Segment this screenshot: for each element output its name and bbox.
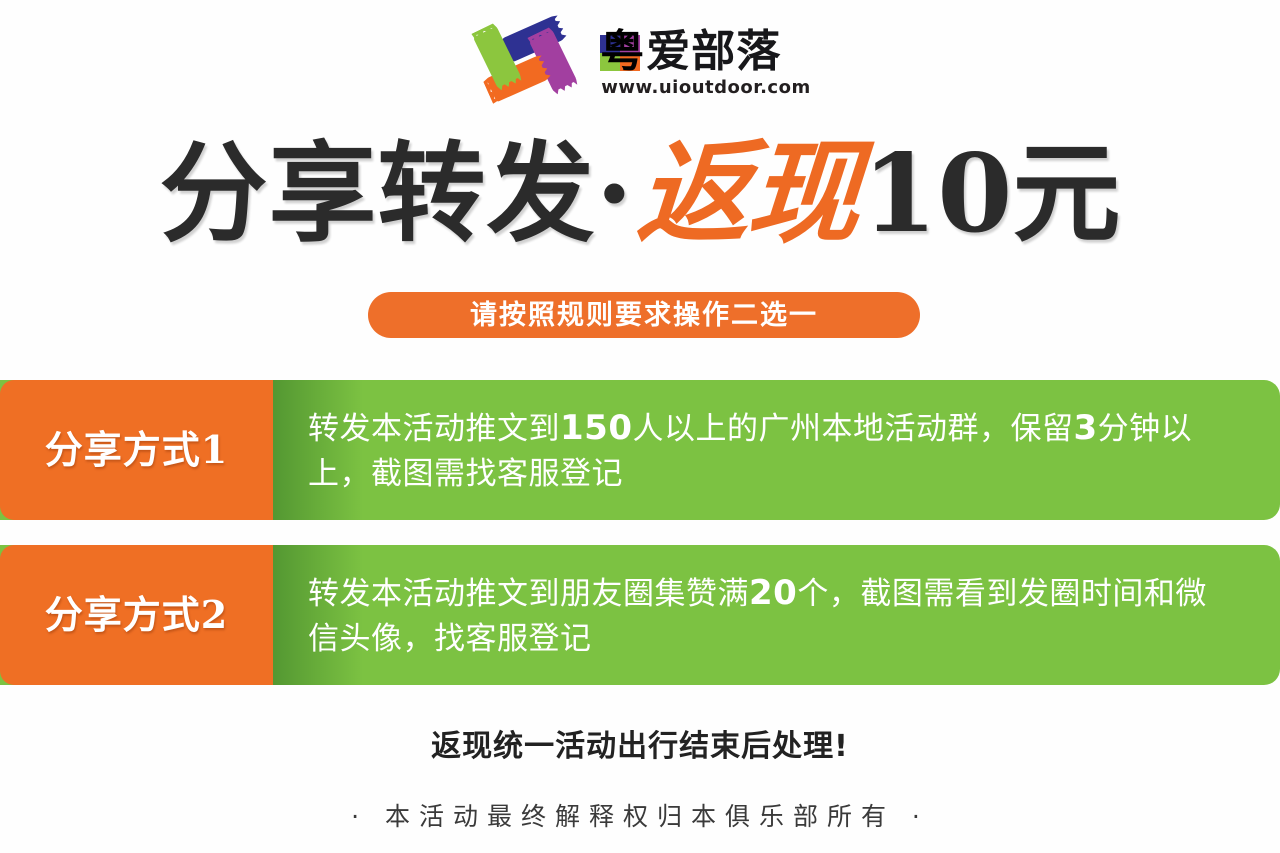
headline-part-dark: 分享转发·: [160, 140, 635, 248]
method-body-text: 转发本活动推文到150人以上的广州本地活动群，保留3分钟以上，截图需找客服登记: [308, 404, 1238, 496]
method-label-text: 分享方式2: [45, 596, 228, 634]
brand-text-group: 粤 爱部落 www.uioutdoor.com: [599, 30, 810, 98]
method-label-text: 分享方式1: [45, 431, 228, 469]
footer-main-note-text: 返现统一活动出行结束后处理!: [431, 729, 849, 764]
brand-name-prefix: 粤: [600, 26, 645, 77]
brand-name-hero-char: 粤: [599, 30, 646, 75]
rule-banner: 请按照规则要求操作二选一: [368, 292, 920, 338]
method-body-text: 转发本活动推文到朋友圈集赞满20个，截图需看到发圈时间和微信头像，找客服登记: [308, 569, 1238, 661]
headline-part-accent: 返现: [630, 138, 866, 250]
method-label-badge: 分享方式1: [0, 380, 273, 520]
footer-disclaimer-text: · 本活动最终解释权归本俱乐部所有 ·: [351, 802, 929, 831]
brand-name-rest: 爱部落: [646, 30, 781, 75]
brand-name: 粤 爱部落: [599, 30, 781, 75]
promo-poster: 粤 爱部落 www.uioutdoor.com 分享转发· 返现 10元 请按照…: [0, 0, 1280, 853]
rule-banner-text: 请按照规则要求操作二选一: [470, 302, 818, 329]
method-body: 转发本活动推文到150人以上的广州本地活动群，保留3分钟以上，截图需找客服登记: [308, 380, 1238, 520]
pinwheel-logo-icon: [469, 18, 577, 110]
headline: 分享转发· 返现 10元: [0, 124, 1280, 264]
brand-url: www.uioutdoor.com: [601, 77, 810, 98]
method-row: 分享方式2 转发本活动推文到朋友圈集赞满20个，截图需看到发圈时间和微信头像，找…: [0, 545, 1280, 685]
footer-main-note: 返现统一活动出行结束后处理!: [0, 730, 1280, 763]
method-row: 分享方式1 转发本活动推文到150人以上的广州本地活动群，保留3分钟以上，截图需…: [0, 380, 1280, 520]
brand-header: 粤 爱部落 www.uioutdoor.com: [0, 14, 1280, 114]
footer-disclaimer: · 本活动最终解释权归本俱乐部所有 ·: [0, 803, 1280, 831]
method-body: 转发本活动推文到朋友圈集赞满20个，截图需看到发圈时间和微信头像，找客服登记: [308, 545, 1238, 685]
headline-part-amount: 10元: [862, 140, 1120, 248]
method-label-badge: 分享方式2: [0, 545, 273, 685]
